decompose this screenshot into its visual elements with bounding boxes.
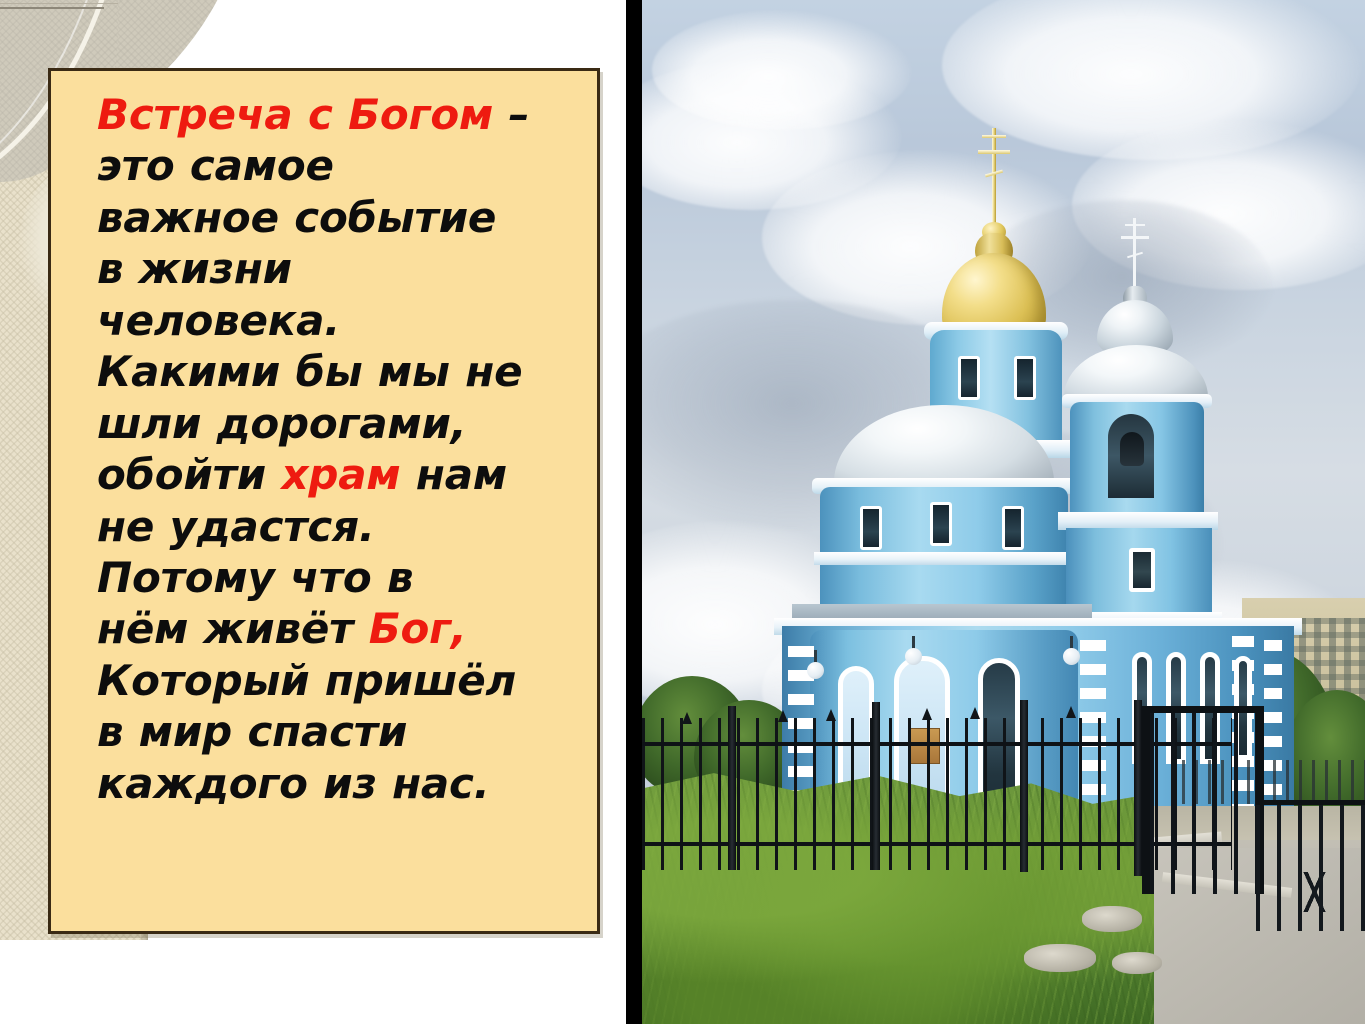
- quote-text: каждого из нас.: [97, 759, 490, 808]
- octagon-window: [1002, 506, 1024, 550]
- quote-text: Какими бы мы не: [97, 347, 522, 396]
- quote-accent-word: Встреча с Богом: [97, 90, 493, 139]
- quote-text-card: Встреча с Богом – это самоеважное событи…: [48, 68, 600, 934]
- drum-window: [1014, 356, 1036, 400]
- decorative-rule-light: [0, 3, 118, 4]
- bell-tower-cross-icon: [1126, 218, 1144, 290]
- quote-text: шли дорогами,: [97, 399, 467, 448]
- rubble: [1082, 906, 1142, 932]
- bell-icon: [1120, 432, 1144, 466]
- fence-spike: [826, 709, 836, 721]
- gate-frame-left: [1142, 706, 1150, 894]
- drum-window: [958, 356, 980, 400]
- gate-cross-bracing: [1256, 872, 1365, 912]
- quote-text: нам: [401, 450, 508, 499]
- church-photo: [642, 0, 1365, 1024]
- quote-text: –: [493, 90, 529, 139]
- quote-text: человека.: [97, 296, 340, 345]
- wall-lamp-icon: [807, 662, 824, 679]
- fence-post: [1134, 700, 1142, 876]
- slide-canvas: Встреча с Богом – это самоеважное событи…: [0, 0, 1365, 1024]
- rubble: [1024, 944, 1096, 972]
- decorative-rule: [0, 7, 104, 9]
- quote-text: в мир спасти: [97, 707, 407, 756]
- rubble: [1112, 952, 1162, 974]
- gate-bars: [1150, 713, 1256, 894]
- quote-accent-word: Бог,: [369, 604, 467, 653]
- fence-spike: [778, 710, 788, 722]
- iron-gate: [1142, 706, 1264, 894]
- fence-spike: [682, 712, 692, 724]
- octagon-window: [860, 506, 882, 550]
- gate-frame-top: [1142, 706, 1264, 713]
- quote-text: обойти: [97, 450, 281, 499]
- wall-lamp-icon: [905, 648, 922, 665]
- quote-text: нём живёт: [97, 604, 369, 653]
- quote-text: не удастся.: [97, 502, 375, 551]
- bell-tower-window: [1129, 548, 1155, 592]
- fence-post: [728, 706, 736, 870]
- octagon-band: [814, 552, 1074, 565]
- quote-paragraph: Встреча с Богом – это самоеважное событи…: [97, 89, 581, 809]
- quote-text: Который пришёл: [97, 656, 516, 705]
- fence-spike: [1066, 706, 1076, 718]
- orthodox-cross-icon: [985, 128, 1003, 224]
- quote-text: это самое: [97, 141, 334, 190]
- fence-post: [1020, 700, 1028, 872]
- quote-text: Потому что в: [97, 553, 413, 602]
- church-photo-frame: [626, 0, 1365, 1024]
- octagon-window: [930, 502, 952, 546]
- fence-post: [872, 702, 880, 870]
- fence-spike: [922, 708, 932, 720]
- quote-accent-word: храм: [281, 450, 400, 499]
- wall-lamp-icon: [1063, 648, 1080, 665]
- quote-text: в жизни: [97, 244, 292, 293]
- quote-text: важное событие: [97, 193, 496, 242]
- fence-spike: [970, 707, 980, 719]
